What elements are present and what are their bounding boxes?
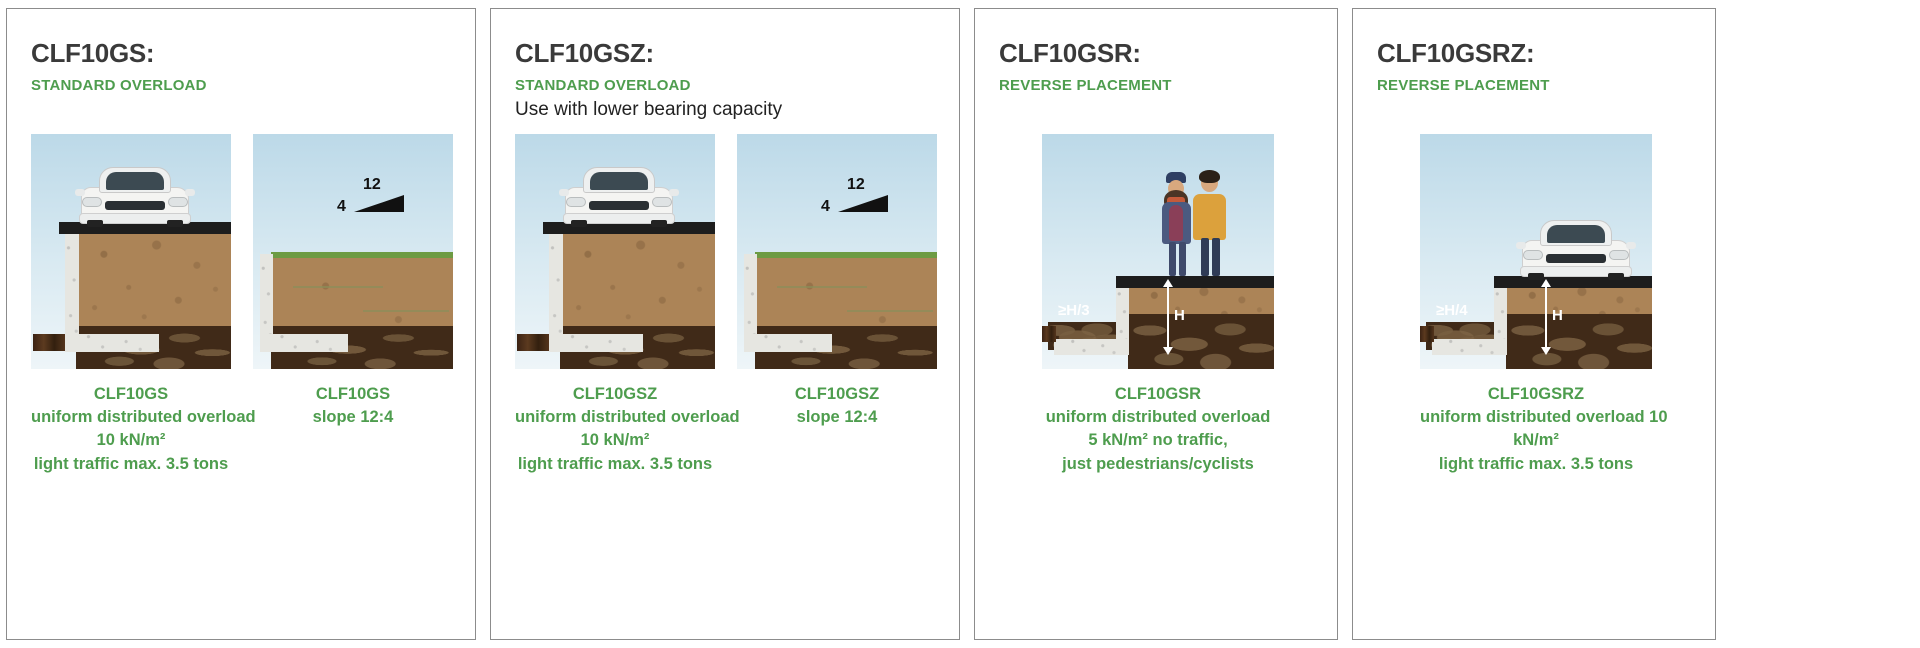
figure-caption: CLF10GSRZ uniform distributed overload 1… [1420,383,1652,477]
illustration-scene [31,134,231,369]
illustration-scene: H ≥H/3 [1042,134,1274,369]
diagram-board: CLF10GS: STANDARD OVERLOAD [0,0,1920,648]
heel-label: ≥H/3 [1058,302,1090,319]
wall-footing [549,334,643,352]
figure-caption: CLF10GSZ uniform distributed overload 10… [515,383,715,477]
slope-wedge-icon [838,195,888,212]
figure-row: CLF10GS uniform distributed overload 10 … [31,134,455,477]
wall-footing [260,334,348,352]
figure-row: H ≥H/3 [999,134,1317,477]
height-dimension-arrow [1167,286,1169,348]
wall-footing [1432,339,1507,355]
panel-note [999,98,1317,122]
slope-wedge-icon [354,195,404,212]
panel-title: CLF10GSRZ: [1377,39,1695,68]
illustration-scene: 12 4 [253,134,453,369]
figure-caption: CLF10GSR uniform distributed overload 5 … [1042,383,1274,477]
figure-caption: CLF10GSZ slope 12:4 [737,383,937,430]
height-label: H [1552,307,1563,324]
wall-footing [744,334,832,352]
car-illustration [559,165,683,227]
figure-car-on-wall: CLF10GSZ uniform distributed overload 10… [515,134,715,477]
drainage-pipe [1042,326,1056,342]
height-label: H [1174,307,1185,324]
pedestrian-left [1160,172,1196,276]
figure-slope: 12 4 CLF10GSZ slope 12:4 [737,134,937,477]
panel-subtitle: REVERSE PLACEMENT [999,77,1317,94]
panel-note: Use with lower bearing capacity [515,98,939,122]
wall-footing [65,334,159,352]
wall-stem [549,230,563,349]
road-surface [1116,276,1274,288]
panel-clf10gsr: CLF10GSR: REVERSE PLACEMENT H ≥H/3 [974,8,1338,640]
illustration-scene [515,134,715,369]
drainage-pipe [33,334,65,351]
panel-note [1377,98,1695,122]
panel-subtitle: REVERSE PLACEMENT [1377,77,1695,94]
soil-fill [76,234,231,326]
rock-layer [1506,314,1652,369]
panel-note [31,98,455,122]
wall-stem [65,230,79,349]
panel-subtitle: STANDARD OVERLOAD [31,77,455,94]
figure-row: H ≥H/4 CLF10GSRZ uniform distributed ove… [1377,134,1695,477]
drainage-pipe [517,334,549,351]
soil-fill [560,234,715,326]
slope-rise-label: 12 [847,176,865,194]
figure-caption: CLF10GS uniform distributed overload 10 … [31,383,231,477]
panel-title: CLF10GS: [31,39,455,68]
height-dimension-arrow [1545,286,1547,348]
figure-slope: 12 4 CLF10GS slope 12:4 [253,134,453,477]
figure-car-on-wall: CLF10GS uniform distributed overload 10 … [31,134,231,477]
panel-clf10gs: CLF10GS: STANDARD OVERLOAD [6,8,476,640]
rock-layer [1128,314,1274,369]
illustration-scene: 12 4 [737,134,937,369]
illustration-scene: H ≥H/4 [1420,134,1652,369]
panel-subtitle: STANDARD OVERLOAD [515,77,939,94]
slope-run-label: 4 [821,198,830,216]
slope-run-label: 4 [337,198,346,216]
panel-clf10gsz: CLF10GSZ: STANDARD OVERLOAD Use with low… [490,8,960,640]
panel-title: CLF10GSR: [999,39,1317,68]
car-illustration [1516,218,1640,280]
pedestrian-right [1192,168,1230,276]
panel-clf10gsrz: CLF10GSRZ: REVERSE PLACEMENT H ≥H/4 [1352,8,1716,640]
drainage-pipe [1420,326,1434,342]
figure-caption: CLF10GS slope 12:4 [253,383,453,430]
slope-rise-label: 12 [363,176,381,194]
figure-row: CLF10GSZ uniform distributed overload 10… [515,134,939,477]
panel-title: CLF10GSZ: [515,39,939,68]
figure-pedestrians-on-wall: H ≥H/3 [1042,134,1274,477]
car-illustration [75,165,199,227]
heel-label: ≥H/4 [1436,302,1468,319]
figure-car-reverse-wall: H ≥H/4 CLF10GSRZ uniform distributed ove… [1420,134,1652,477]
wall-footing [1054,339,1129,355]
